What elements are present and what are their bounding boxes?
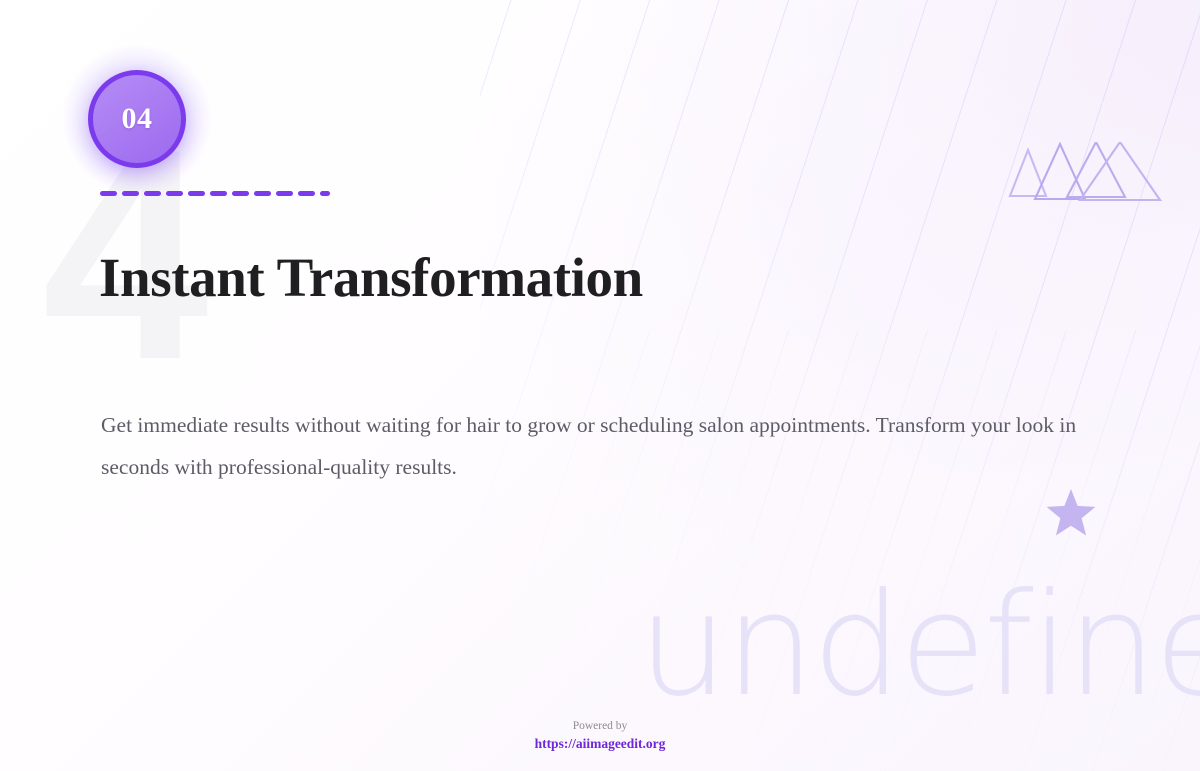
diagonal-stripes-pattern bbox=[480, 0, 1200, 771]
dashed-accent-rule bbox=[100, 183, 330, 188]
diagonal-stripes-pattern-lower bbox=[580, 330, 1200, 771]
numbered-step-badge: 04 bbox=[88, 70, 186, 168]
body-paragraph: Get immediate results without waiting fo… bbox=[101, 404, 1111, 488]
step-badge-label: 04 bbox=[122, 104, 153, 134]
slide-canvas: 4 undefined 04 Instant Transformation Ge… bbox=[0, 0, 1200, 771]
star-icon bbox=[1046, 488, 1096, 541]
footer-site-link[interactable]: https://aiimageedit.org bbox=[535, 735, 666, 753]
mountain-triangles-icon bbox=[1008, 142, 1166, 209]
step-badge: 04 bbox=[88, 70, 186, 168]
page-title: Instant Transformation bbox=[99, 249, 643, 307]
powered-by-label: Powered by bbox=[0, 718, 1200, 735]
footer: Powered by https://aiimageedit.org bbox=[0, 718, 1200, 753]
undefined-watermark: undefined bbox=[638, 575, 1200, 717]
